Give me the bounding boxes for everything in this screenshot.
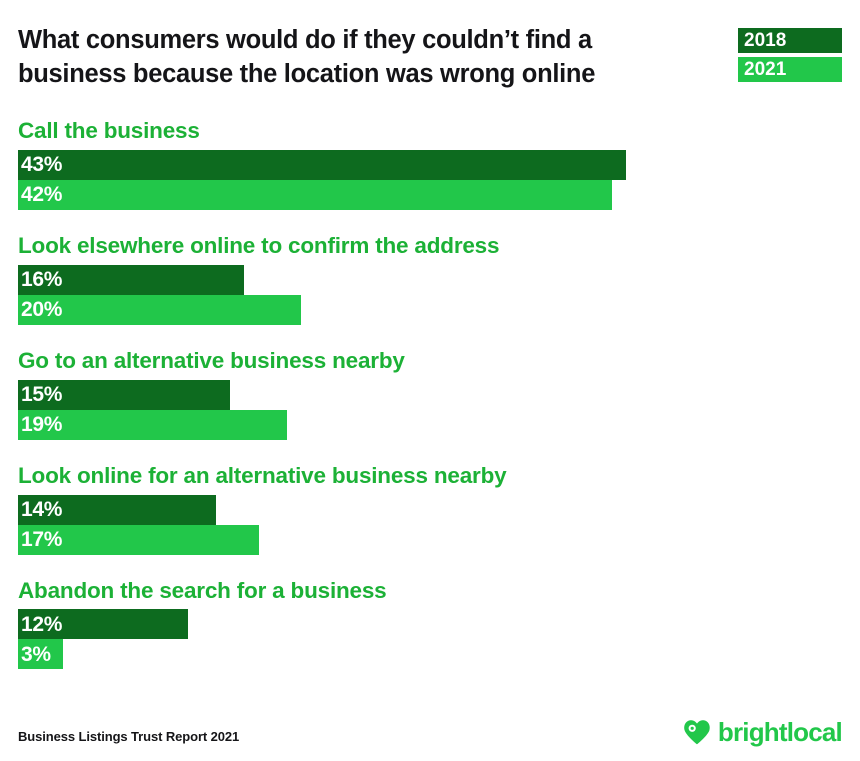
bar-2021: 19% [18, 410, 287, 440]
bar-group-label: Go to an alternative business nearby [18, 348, 860, 374]
bar-2018: 14% [18, 495, 216, 525]
bar-group-label: Look online for an alternative business … [18, 463, 860, 489]
bar-group: Look elsewhere online to confirm the add… [0, 233, 860, 325]
bar-value-label: 3% [18, 644, 51, 665]
bar-2018: 43% [18, 150, 626, 180]
bar-group: Look online for an alternative business … [0, 463, 860, 555]
brightlocal-logo: brightlocal [683, 719, 842, 745]
bar-value-label: 12% [18, 614, 62, 635]
bar-value-label: 43% [18, 154, 62, 175]
bar-pair: 12%3% [18, 609, 860, 669]
bar-2018: 16% [18, 265, 244, 295]
bar-group: Call the business43%42% [0, 118, 860, 210]
bar-group: Abandon the search for a business12%3% [0, 578, 860, 670]
chart-footer: Business Listings Trust Report 2021 brig… [0, 709, 860, 761]
bar-group-label: Abandon the search for a business [18, 578, 860, 604]
bar-2018: 15% [18, 380, 230, 410]
chart-title: What consumers would do if they couldn’t… [18, 24, 718, 92]
bar-group-label: Look elsewhere online to confirm the add… [18, 233, 860, 259]
legend-label-2021: 2021 [744, 60, 786, 79]
bar-2021: 20% [18, 295, 301, 325]
heart-pin-icon [683, 719, 711, 745]
bar-value-label: 15% [18, 384, 62, 405]
chart-root: What consumers would do if they couldn’t… [0, 0, 860, 761]
bar-pair: 43%42% [18, 150, 860, 210]
bar-pair: 15%19% [18, 380, 860, 440]
bar-group: Go to an alternative business nearby15%1… [0, 348, 860, 440]
bar-value-label: 42% [18, 184, 62, 205]
bar-value-label: 16% [18, 269, 62, 290]
bar-2018: 12% [18, 609, 188, 639]
chart-legend: 2018 2021 [738, 28, 842, 82]
bar-value-label: 17% [18, 529, 62, 550]
bar-group-label: Call the business [18, 118, 860, 144]
legend-label-2018: 2018 [744, 31, 786, 50]
chart-header: What consumers would do if they couldn’t… [0, 0, 860, 110]
bar-value-label: 20% [18, 299, 62, 320]
bar-pair: 16%20% [18, 265, 860, 325]
bar-2021: 42% [18, 180, 612, 210]
brand-wordmark: brightlocal [718, 719, 842, 745]
legend-item-2021: 2021 [738, 57, 842, 82]
bar-groups: Call the business43%42%Look elsewhere on… [0, 118, 860, 692]
bar-value-label: 19% [18, 414, 62, 435]
bar-pair: 14%17% [18, 495, 860, 555]
bar-2021: 17% [18, 525, 259, 555]
bar-value-label: 14% [18, 499, 62, 520]
source-note: Business Listings Trust Report 2021 [18, 729, 239, 744]
legend-item-2018: 2018 [738, 28, 842, 53]
bar-2021: 3% [18, 639, 63, 669]
